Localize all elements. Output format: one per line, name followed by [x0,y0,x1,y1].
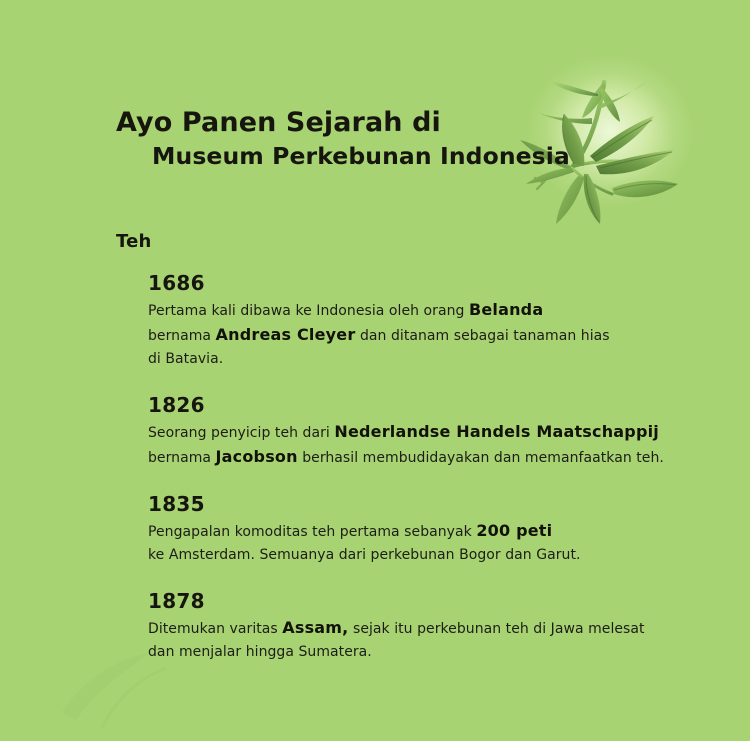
emphasis-text: Andreas Cleyer [216,325,356,344]
emphasis-text: Assam, [282,618,348,637]
body-text: di Batavia. [148,351,223,367]
emphasis-text: Jacobson [216,447,298,466]
entry-year: 1686 [148,270,708,296]
entry-body: Ditemukan varitas Assam, sejak itu perke… [148,616,708,664]
body-text: Pengapalan komoditas teh pertama sebanya… [148,524,476,540]
entry-body: Pertama kali dibawa ke Indonesia oleh or… [148,298,708,371]
emphasis-text: Belanda [469,300,543,319]
timeline-entry: 1835 Pengapalan komoditas teh pertama se… [148,491,708,567]
body-text: Ditemukan varitas [148,621,282,637]
entry-year: 1826 [148,392,708,418]
entry-year: 1835 [148,491,708,517]
body-text: berhasil membudidayakan dan memanfaatkan… [298,450,664,466]
timeline-entry-list: 1686 Pertama kali dibawa ke Indonesia ol… [148,270,708,664]
emphasis-text: Nederlandse Handels Maatschappij [334,422,659,441]
emphasis-text: 200 peti [476,521,552,540]
body-text: Seorang penyicip teh dari [148,425,334,441]
section-heading-teh: Teh [116,231,152,252]
body-text: bernama [148,450,216,466]
body-text: bernama [148,328,216,344]
body-text: Pertama kali dibawa ke Indonesia oleh or… [148,303,469,319]
timeline-entry: 1686 Pertama kali dibawa ke Indonesia ol… [148,270,708,371]
poster-title: Ayo Panen Sejarah di Museum Perkebunan I… [116,106,586,172]
entry-year: 1878 [148,588,708,614]
timeline-entry: 1826 Seorang penyicip teh dari Nederland… [148,392,708,470]
body-text: sejak itu perkebunan teh di Jawa melesat [348,621,644,637]
timeline-entry: 1878 Ditemukan varitas Assam, sejak itu … [148,588,708,664]
poster-canvas: Ayo Panen Sejarah di Museum Perkebunan I… [0,0,750,741]
entry-body: Pengapalan komoditas teh pertama sebanya… [148,519,708,567]
title-line-1: Ayo Panen Sejarah di [116,106,586,140]
body-text: ke Amsterdam. Semuanya dari perkebunan B… [148,547,581,563]
title-line-2: Museum Perkebunan Indonesia [152,140,586,172]
entry-body: Seorang penyicip teh dari Nederlandse Ha… [148,420,708,470]
body-text: dan menjalar hingga Sumatera. [148,644,372,660]
body-text: dan ditanam sebagai tanaman hias [355,328,609,344]
